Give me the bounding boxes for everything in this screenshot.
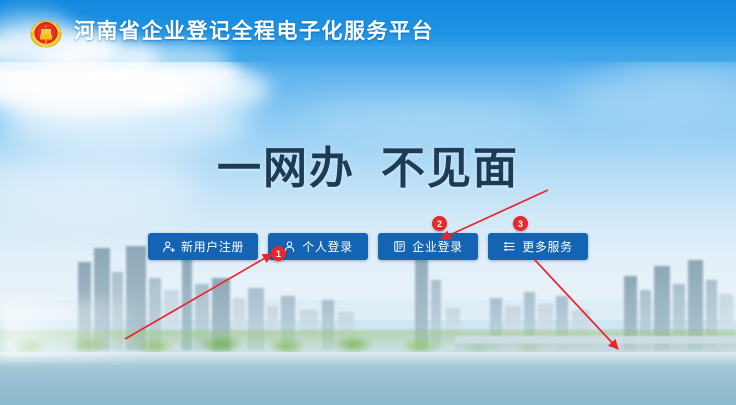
annotation-marker-3: 3 [513, 216, 528, 231]
china-aic-emblem-icon [28, 15, 64, 49]
list-menu-icon [503, 240, 516, 253]
enterprise-login-button[interactable]: 企业登录 [378, 233, 478, 260]
annotation-marker-2: 2 [432, 216, 447, 231]
button-label: 更多服务 [522, 238, 572, 255]
left-mist [0, 300, 150, 358]
site-title: 河南省企业登记全程电子化服务平台 [74, 15, 434, 49]
new-user-register-button[interactable]: 新用户注册 [148, 233, 258, 260]
hero-headline: 一网办不见面 [0, 132, 736, 196]
annotation-marker-1: 1 [271, 246, 286, 261]
user-add-icon [162, 240, 175, 253]
more-services-button[interactable]: 更多服务 [488, 233, 588, 260]
headline-part-1: 一网办 [217, 144, 355, 193]
brand-block: 河南省企业登记全程电子化服务平台 [28, 15, 434, 49]
action-button-row: 新用户注册 个人登录 企业登录 [0, 233, 736, 260]
headline-part-2: 不见面 [381, 144, 519, 193]
button-label: 个人登录 [302, 238, 352, 255]
building-icon [393, 240, 406, 253]
button-label: 企业登录 [412, 238, 462, 255]
page-root: 河南省企业登记全程电子化服务平台 一网办不见面 新用户注册 [0, 0, 736, 405]
button-label: 新用户注册 [181, 238, 244, 255]
